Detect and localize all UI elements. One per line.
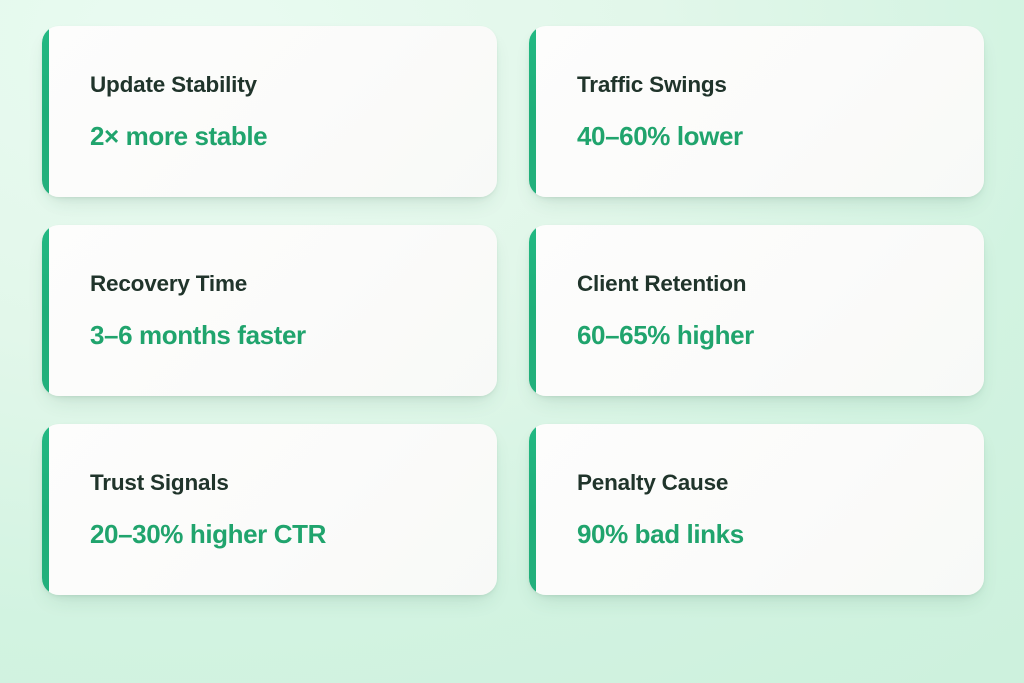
card-body: Trust Signals 20–30% higher CTR xyxy=(42,469,497,550)
card-body: Client Retention 60–65% higher xyxy=(529,270,984,351)
stat-card-update-stability[interactable]: Update Stability 2× more stable xyxy=(42,26,497,197)
accent-bar-icon xyxy=(42,424,49,595)
stat-title: Recovery Time xyxy=(90,270,473,297)
stats-card-grid: Update Stability 2× more stable Traffic … xyxy=(42,26,984,595)
stat-value: 3–6 months faster xyxy=(90,320,473,351)
accent-bar-icon xyxy=(42,26,49,197)
card-body: Traffic Swings 40–60% lower xyxy=(529,71,984,152)
stat-value: 60–65% higher xyxy=(577,320,960,351)
card-body: Update Stability 2× more stable xyxy=(42,71,497,152)
accent-bar-icon xyxy=(529,26,536,197)
stat-title: Traffic Swings xyxy=(577,71,960,98)
stat-value: 2× more stable xyxy=(90,121,473,152)
card-body: Penalty Cause 90% bad links xyxy=(529,469,984,550)
accent-bar-icon xyxy=(529,424,536,595)
stat-value: 20–30% higher CTR xyxy=(90,519,473,550)
stat-title: Trust Signals xyxy=(90,469,473,496)
accent-bar-icon xyxy=(529,225,536,396)
stat-card-client-retention[interactable]: Client Retention 60–65% higher xyxy=(529,225,984,396)
stat-value: 90% bad links xyxy=(577,519,960,550)
stat-card-recovery-time[interactable]: Recovery Time 3–6 months faster xyxy=(42,225,497,396)
stat-title: Penalty Cause xyxy=(577,469,960,496)
stat-card-traffic-swings[interactable]: Traffic Swings 40–60% lower xyxy=(529,26,984,197)
stat-value: 40–60% lower xyxy=(577,121,960,152)
card-body: Recovery Time 3–6 months faster xyxy=(42,270,497,351)
stat-title: Update Stability xyxy=(90,71,473,98)
accent-bar-icon xyxy=(42,225,49,396)
stat-card-penalty-cause[interactable]: Penalty Cause 90% bad links xyxy=(529,424,984,595)
stat-title: Client Retention xyxy=(577,270,960,297)
stat-card-trust-signals[interactable]: Trust Signals 20–30% higher CTR xyxy=(42,424,497,595)
